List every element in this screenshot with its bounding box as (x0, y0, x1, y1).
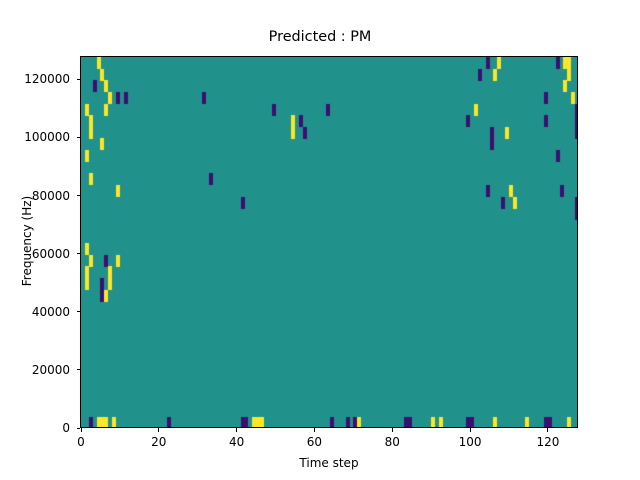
ytick-mark-40000 (77, 311, 81, 312)
xtick-label-100: 100 (440, 436, 500, 448)
ytick-label-60000: 60000 (4, 248, 70, 260)
ytick-label-100000: 100000 (4, 131, 70, 143)
xtick-label-20: 20 (129, 436, 189, 448)
xtick-mark-100 (470, 428, 471, 432)
xtick-mark-60 (314, 428, 315, 432)
y-axis-label: Frequency (Hz) (20, 181, 34, 301)
ytick-mark-120000 (77, 79, 81, 80)
ytick-label-80000: 80000 (4, 190, 70, 202)
chart-title: Predicted : PM (0, 29, 640, 46)
xtick-mark-20 (158, 428, 159, 432)
xtick-mark-0 (81, 428, 82, 432)
xtick-label-120: 120 (518, 436, 578, 448)
ytick-mark-100000 (77, 137, 81, 138)
x-axis-label: Time step (80, 456, 578, 470)
xtick-mark-40 (236, 428, 237, 432)
xtick-mark-80 (392, 428, 393, 432)
ytick-label-120000: 120000 (4, 73, 70, 85)
xtick-label-80: 80 (362, 436, 422, 448)
heatmap-canvas (81, 57, 578, 428)
matplotlib-figure: Predicted : PM 0 20000 40000 60000 80000… (0, 0, 640, 480)
ytick-label-40000: 40000 (4, 306, 70, 318)
xtick-label-0: 0 (51, 436, 111, 448)
ytick-label-0: 0 (4, 422, 70, 434)
xtick-label-60: 60 (284, 436, 344, 448)
ytick-mark-60000 (77, 253, 81, 254)
ytick-mark-0 (77, 428, 81, 429)
xtick-label-40: 40 (207, 436, 267, 448)
ytick-mark-20000 (77, 369, 81, 370)
ytick-mark-80000 (77, 195, 81, 196)
heatmap-axes (80, 56, 578, 428)
xtick-mark-120 (547, 428, 548, 432)
ytick-label-20000: 20000 (4, 364, 70, 376)
